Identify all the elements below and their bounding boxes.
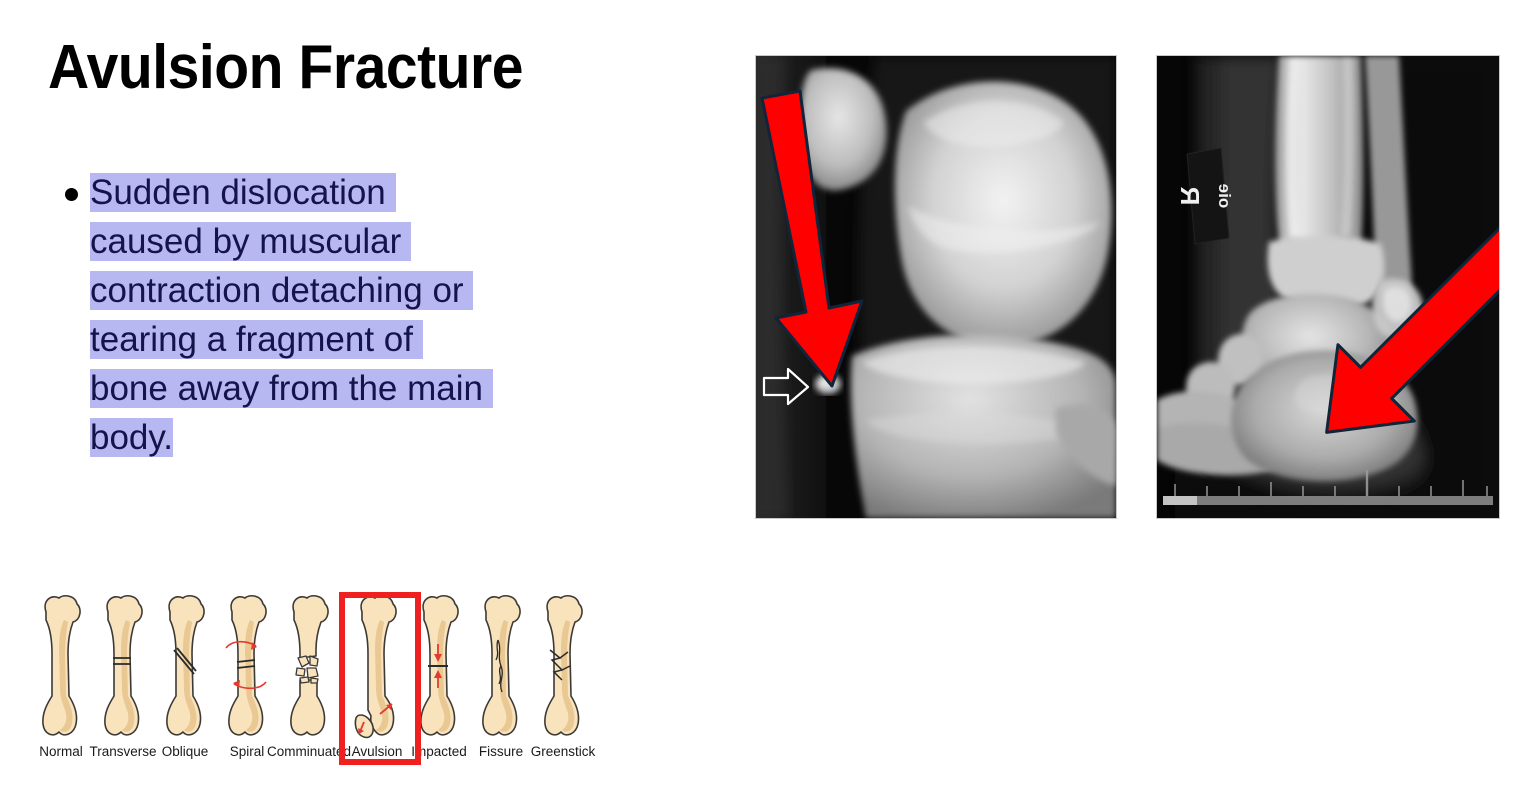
xray-image-knee — [755, 55, 1117, 519]
bullet-line: contraction detaching or — [90, 266, 680, 315]
bone-fragments — [296, 656, 318, 683]
bone-transverse: Transverse — [94, 592, 152, 742]
svg-text:oie: oie — [1215, 184, 1234, 209]
bone-label: Greenstick — [517, 744, 609, 759]
bone-graphic — [472, 592, 530, 742]
knee-radiograph-graphic — [756, 56, 1116, 518]
bullet-line: Sudden dislocation — [90, 168, 680, 217]
svg-text:R: R — [1175, 186, 1205, 205]
fracture-types-diagram: Normal Transverse Obliqu — [14, 592, 594, 777]
ankle-radiograph-graphic: oie R — [1157, 56, 1499, 518]
bone-graphic — [218, 592, 276, 742]
bone-oblique: Oblique — [156, 592, 214, 742]
bullet-marker-icon — [65, 188, 78, 201]
bone-normal: Normal — [32, 592, 90, 742]
bone-graphic — [32, 592, 90, 742]
bone-greenstick: Greenstick — [534, 592, 592, 742]
bone-comminuated: Comminuated — [280, 592, 338, 742]
bone-fissure: Fissure — [472, 592, 530, 742]
bullet-line: caused by muscular — [90, 217, 680, 266]
bullet-line: tearing a fragment of — [90, 315, 680, 364]
bone-graphic — [280, 592, 338, 742]
xray-image-ankle: oie R — [1156, 55, 1500, 519]
bone-spiral: Spiral — [218, 592, 276, 742]
bone-graphic — [156, 592, 214, 742]
bullet-line: bone away from the main — [90, 364, 680, 413]
bone-graphic — [534, 592, 592, 742]
page-title: Avulsion Fracture — [48, 32, 523, 103]
bullet-line: body. — [90, 413, 680, 462]
bullet-text: Sudden dislocation caused by muscular co… — [90, 168, 680, 462]
avulsion-highlight-box — [339, 592, 421, 765]
bone-graphic — [94, 592, 152, 742]
